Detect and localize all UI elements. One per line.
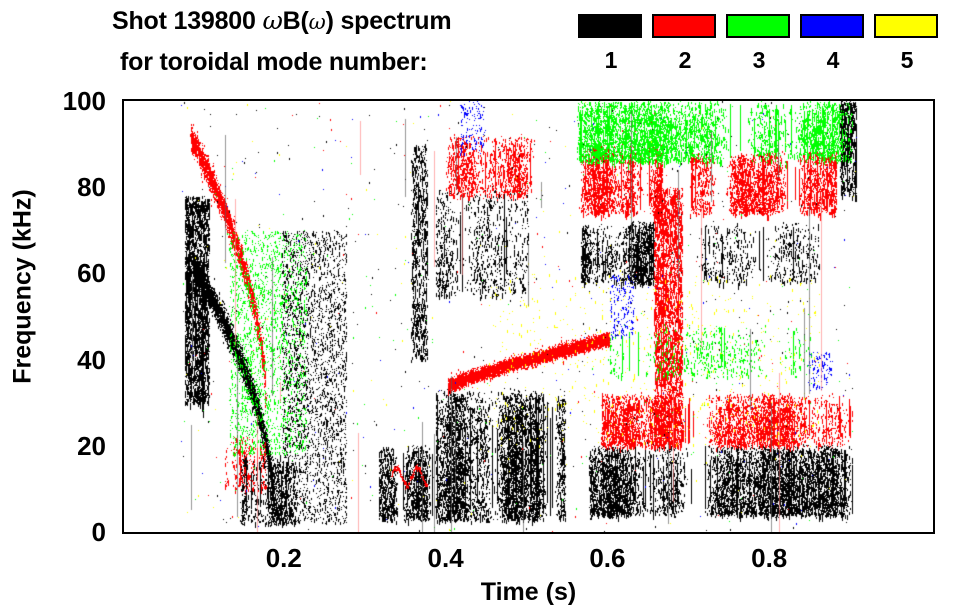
x-tick [649, 532, 651, 534]
title-spectrum-text: ) spectrum [326, 7, 452, 35]
x-tick-label: 0.6 [567, 545, 647, 571]
x-tick [568, 99, 570, 101]
title-shot-text: Shot 139800 [112, 7, 262, 35]
x-tick [406, 532, 408, 534]
x-tick [163, 99, 165, 101]
y-tick [933, 294, 935, 296]
x-tick [204, 99, 206, 101]
legend-item-n3: 3 [726, 14, 792, 72]
x-tick-label: 0.2 [244, 545, 324, 571]
legend-label-n2: 2 [652, 49, 718, 72]
x-tick [892, 99, 894, 101]
y-tick-label: 100 [63, 88, 106, 114]
x-axis-tick-labels: 0.20.40.60.8 [122, 545, 935, 579]
y-tick [122, 122, 124, 124]
x-tick [528, 99, 530, 101]
x-tick-label: 0.4 [406, 545, 486, 571]
x-tick [932, 99, 934, 101]
y-tick [122, 100, 124, 102]
y-tick [122, 208, 124, 210]
legend-item-n5: 5 [874, 14, 940, 72]
x-tick [366, 532, 368, 534]
y-tick [122, 402, 124, 404]
y-tick [933, 509, 935, 511]
x-tick [892, 532, 894, 534]
spectrogram-figure: Shot 139800 ωB(ω) spectrum for toroidal … [0, 0, 963, 615]
x-tick [811, 532, 813, 534]
x-tick [851, 532, 853, 534]
y-tick-label: 40 [77, 347, 106, 373]
x-tick [447, 99, 449, 101]
axis-ticks [124, 101, 933, 532]
y-tick [933, 359, 935, 361]
y-tick [122, 531, 124, 533]
x-tick [608, 99, 610, 101]
y-tick-label: 20 [77, 433, 106, 459]
omega-symbol-1: ω [262, 6, 282, 35]
y-tick [933, 100, 935, 102]
y-tick-label: 80 [77, 174, 106, 200]
title-b-text: B( [283, 7, 309, 35]
y-tick [933, 165, 935, 167]
y-tick [122, 251, 124, 253]
legend-swatch-n5 [874, 14, 938, 38]
y-tick-label: 60 [77, 260, 106, 286]
x-tick [204, 532, 206, 534]
x-tick [406, 99, 408, 101]
x-tick [528, 532, 530, 534]
x-tick [932, 532, 934, 534]
x-tick [325, 532, 327, 534]
y-tick [933, 316, 935, 318]
y-tick [933, 251, 935, 253]
y-tick [933, 423, 935, 425]
y-tick [122, 272, 124, 274]
x-tick [649, 99, 651, 101]
x-tick [487, 99, 489, 101]
y-tick [933, 208, 935, 210]
y-tick [933, 272, 935, 274]
x-tick [730, 99, 732, 101]
omega-symbol-2: ω [309, 10, 326, 34]
y-tick [122, 186, 124, 188]
x-tick [325, 99, 327, 101]
y-tick [122, 488, 124, 490]
x-tick [163, 532, 165, 534]
y-axis-title: Frequency (kHz) [11, 172, 36, 402]
y-tick [122, 229, 124, 231]
legend-swatch-n2 [652, 14, 716, 38]
legend-label-n4: 4 [800, 49, 866, 72]
y-tick [122, 337, 124, 339]
plot-area [122, 99, 935, 534]
legend: 12345 [578, 14, 950, 88]
y-tick [933, 337, 935, 339]
y-tick [122, 294, 124, 296]
legend-item-n2: 2 [652, 14, 718, 72]
legend-item-n1: 1 [578, 14, 644, 72]
x-tick [689, 99, 691, 101]
y-tick [933, 531, 935, 533]
figure-title-line-2: for toroidal mode number: [120, 50, 428, 75]
y-tick [122, 466, 124, 468]
figure-title-line-1: Shot 139800 ωB(ω) spectrum [112, 8, 451, 34]
legend-swatch-n3 [726, 14, 790, 38]
x-tick [285, 532, 287, 534]
legend-label-n1: 1 [578, 49, 644, 72]
x-tick [568, 532, 570, 534]
legend-label-n5: 5 [874, 49, 940, 72]
y-tick [933, 466, 935, 468]
legend-swatch-n4 [800, 14, 864, 38]
y-tick [122, 359, 124, 361]
legend-label-n3: 3 [726, 49, 792, 72]
x-tick [770, 99, 772, 101]
x-tick [487, 532, 489, 534]
x-tick [244, 532, 246, 534]
y-tick-label: 0 [92, 519, 106, 545]
x-tick-label: 0.8 [729, 545, 809, 571]
y-tick [933, 380, 935, 382]
y-tick [933, 186, 935, 188]
x-tick [285, 99, 287, 101]
y-tick [122, 165, 124, 167]
y-tick [933, 488, 935, 490]
y-tick [122, 445, 124, 447]
y-tick [122, 423, 124, 425]
y-tick [933, 143, 935, 145]
y-tick [122, 380, 124, 382]
y-tick [122, 509, 124, 511]
y-tick [933, 445, 935, 447]
y-tick [122, 143, 124, 145]
legend-item-n4: 4 [800, 14, 866, 72]
x-tick [730, 532, 732, 534]
x-tick [447, 532, 449, 534]
x-tick [770, 532, 772, 534]
x-tick [811, 99, 813, 101]
x-tick [851, 99, 853, 101]
x-tick [366, 99, 368, 101]
x-axis-title: Time (s) [122, 580, 935, 605]
x-tick [244, 99, 246, 101]
legend-swatch-n1 [578, 14, 642, 38]
x-tick [689, 532, 691, 534]
y-tick [933, 122, 935, 124]
y-tick [122, 316, 124, 318]
y-tick [933, 402, 935, 404]
x-tick [608, 532, 610, 534]
y-tick [933, 229, 935, 231]
